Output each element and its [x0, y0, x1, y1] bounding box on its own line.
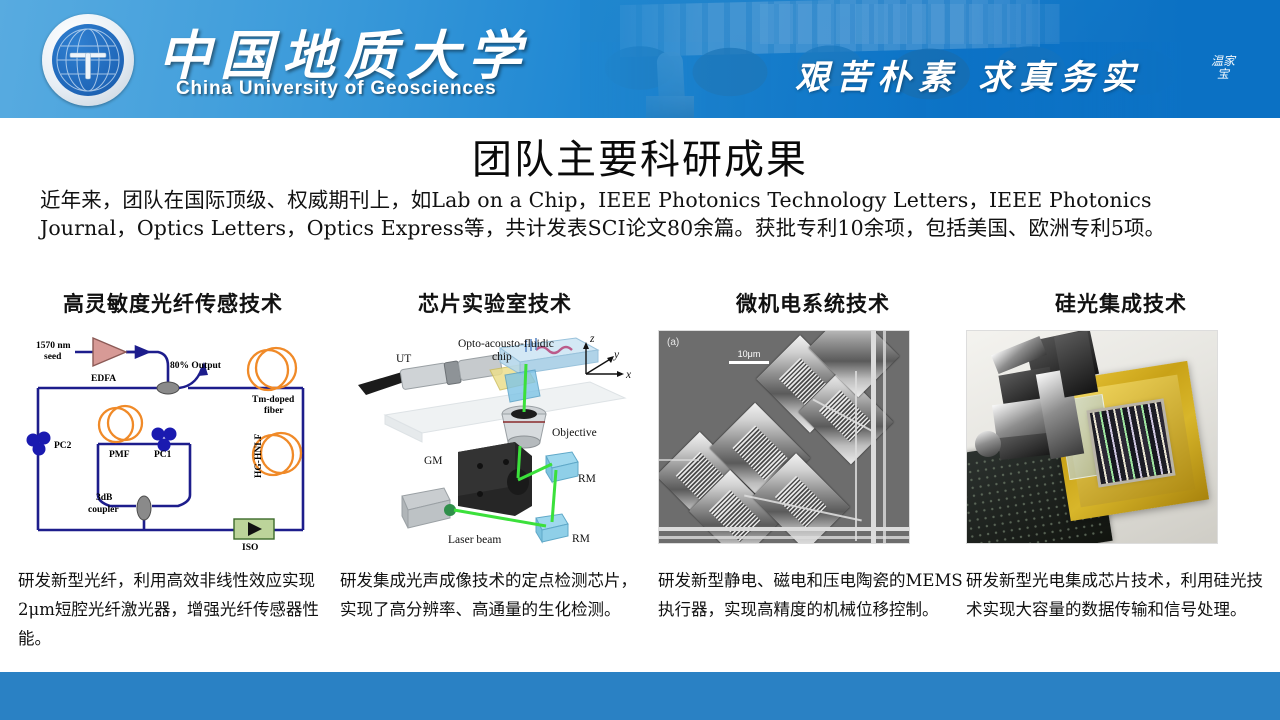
sem-scale-bar: 10μm: [729, 349, 769, 364]
column-heading: 微机电系统技术: [658, 288, 968, 318]
column-fiber-sensing: 高灵敏度光纤传感技术: [18, 288, 328, 653]
svg-text:GM: GM: [424, 455, 443, 467]
university-seal-icon: [42, 14, 134, 106]
column-heading: 硅光集成技术: [966, 288, 1276, 318]
column-caption: 研发新型光电集成芯片技术，利用硅光技术实现大容量的数据传输和信号处理。: [966, 566, 1276, 624]
svg-text:3dB: 3dB: [96, 493, 113, 503]
university-name-en: China University of Geosciences: [176, 78, 496, 100]
svg-text:HG-HNLF: HG-HNLF: [254, 433, 264, 478]
figure-silicon-photonic-chip-photo: [966, 330, 1276, 556]
intro-paragraph: 近年来，团队在国际顶级、权威期刊上，如Lab on a Chip，IEEE Ph…: [40, 186, 1240, 242]
svg-text:80% Output: 80% Output: [170, 361, 222, 371]
figure-fiber-laser-schematic: 1570 nm seed EDFA 80% Output Tm-doped fi…: [18, 330, 328, 556]
column-caption: 研发集成光声成像技术的定点检测芯片，实现了高分辨率、高通量的生化检测。: [340, 566, 650, 624]
svg-text:RM: RM: [572, 533, 590, 545]
svg-text:ISO: ISO: [242, 543, 258, 553]
sem-panel-label: (a): [667, 337, 679, 348]
svg-text:PC2: PC2: [54, 441, 72, 451]
svg-text:RM: RM: [578, 473, 596, 485]
svg-text:z: z: [589, 333, 595, 345]
achievements-columns: 高灵敏度光纤传感技术: [0, 288, 1280, 668]
motto-signature: 温家宝: [1210, 55, 1236, 81]
page-title: 团队主要科研成果: [0, 127, 1280, 185]
figure-mems-sem-micrograph: (a) 10μm: [658, 330, 968, 556]
svg-text:PC1: PC1: [154, 450, 172, 460]
column-lab-on-chip: 芯片实验室技术: [340, 288, 650, 624]
svg-text:Opto-acousto-fluidic: Opto-acousto-fluidic: [458, 338, 554, 350]
svg-text:x: x: [625, 369, 632, 381]
sem-scale-text: 10μm: [738, 349, 761, 359]
university-motto: 艰苦朴素 求真务实: [795, 50, 1142, 99]
svg-text:seed: seed: [44, 352, 62, 362]
column-heading: 高灵敏度光纤传感技术: [18, 288, 328, 318]
svg-text:EDFA: EDFA: [91, 374, 116, 384]
column-mems: 微机电系统技术: [658, 288, 968, 624]
svg-text:UT: UT: [396, 353, 411, 365]
figure-opto-acousto-fluidic-setup: Opto-acousto-fluidic chip UT Objective G…: [340, 330, 650, 556]
svg-text:Tm-doped: Tm-doped: [252, 395, 295, 405]
svg-text:Laser beam: Laser beam: [448, 534, 501, 546]
header-banner: 中国地质大学 China University of Geosciences 艰…: [0, 0, 1280, 118]
svg-text:1570 nm: 1570 nm: [36, 341, 71, 351]
svg-text:chip: chip: [492, 351, 512, 363]
svg-text:coupler: coupler: [88, 505, 119, 515]
column-caption: 研发新型光纤，利用高效非线性效应实现2μm短腔光纤激光器，增强光纤传感器性能。: [18, 566, 328, 653]
svg-text:fiber: fiber: [264, 406, 284, 416]
svg-text:PMF: PMF: [109, 450, 130, 460]
slide-root: 中国地质大学 China University of Geosciences 艰…: [0, 0, 1280, 720]
footer-bar: [0, 672, 1280, 720]
svg-text:Objective: Objective: [552, 427, 597, 439]
column-caption: 研发新型静电、磁电和压电陶瓷的MEMS执行器，实现高精度的机械位移控制。: [658, 566, 968, 624]
column-silicon-photonics: 硅光集成技术 研: [966, 288, 1276, 624]
column-heading: 芯片实验室技术: [340, 288, 650, 318]
svg-text:y: y: [613, 349, 620, 361]
